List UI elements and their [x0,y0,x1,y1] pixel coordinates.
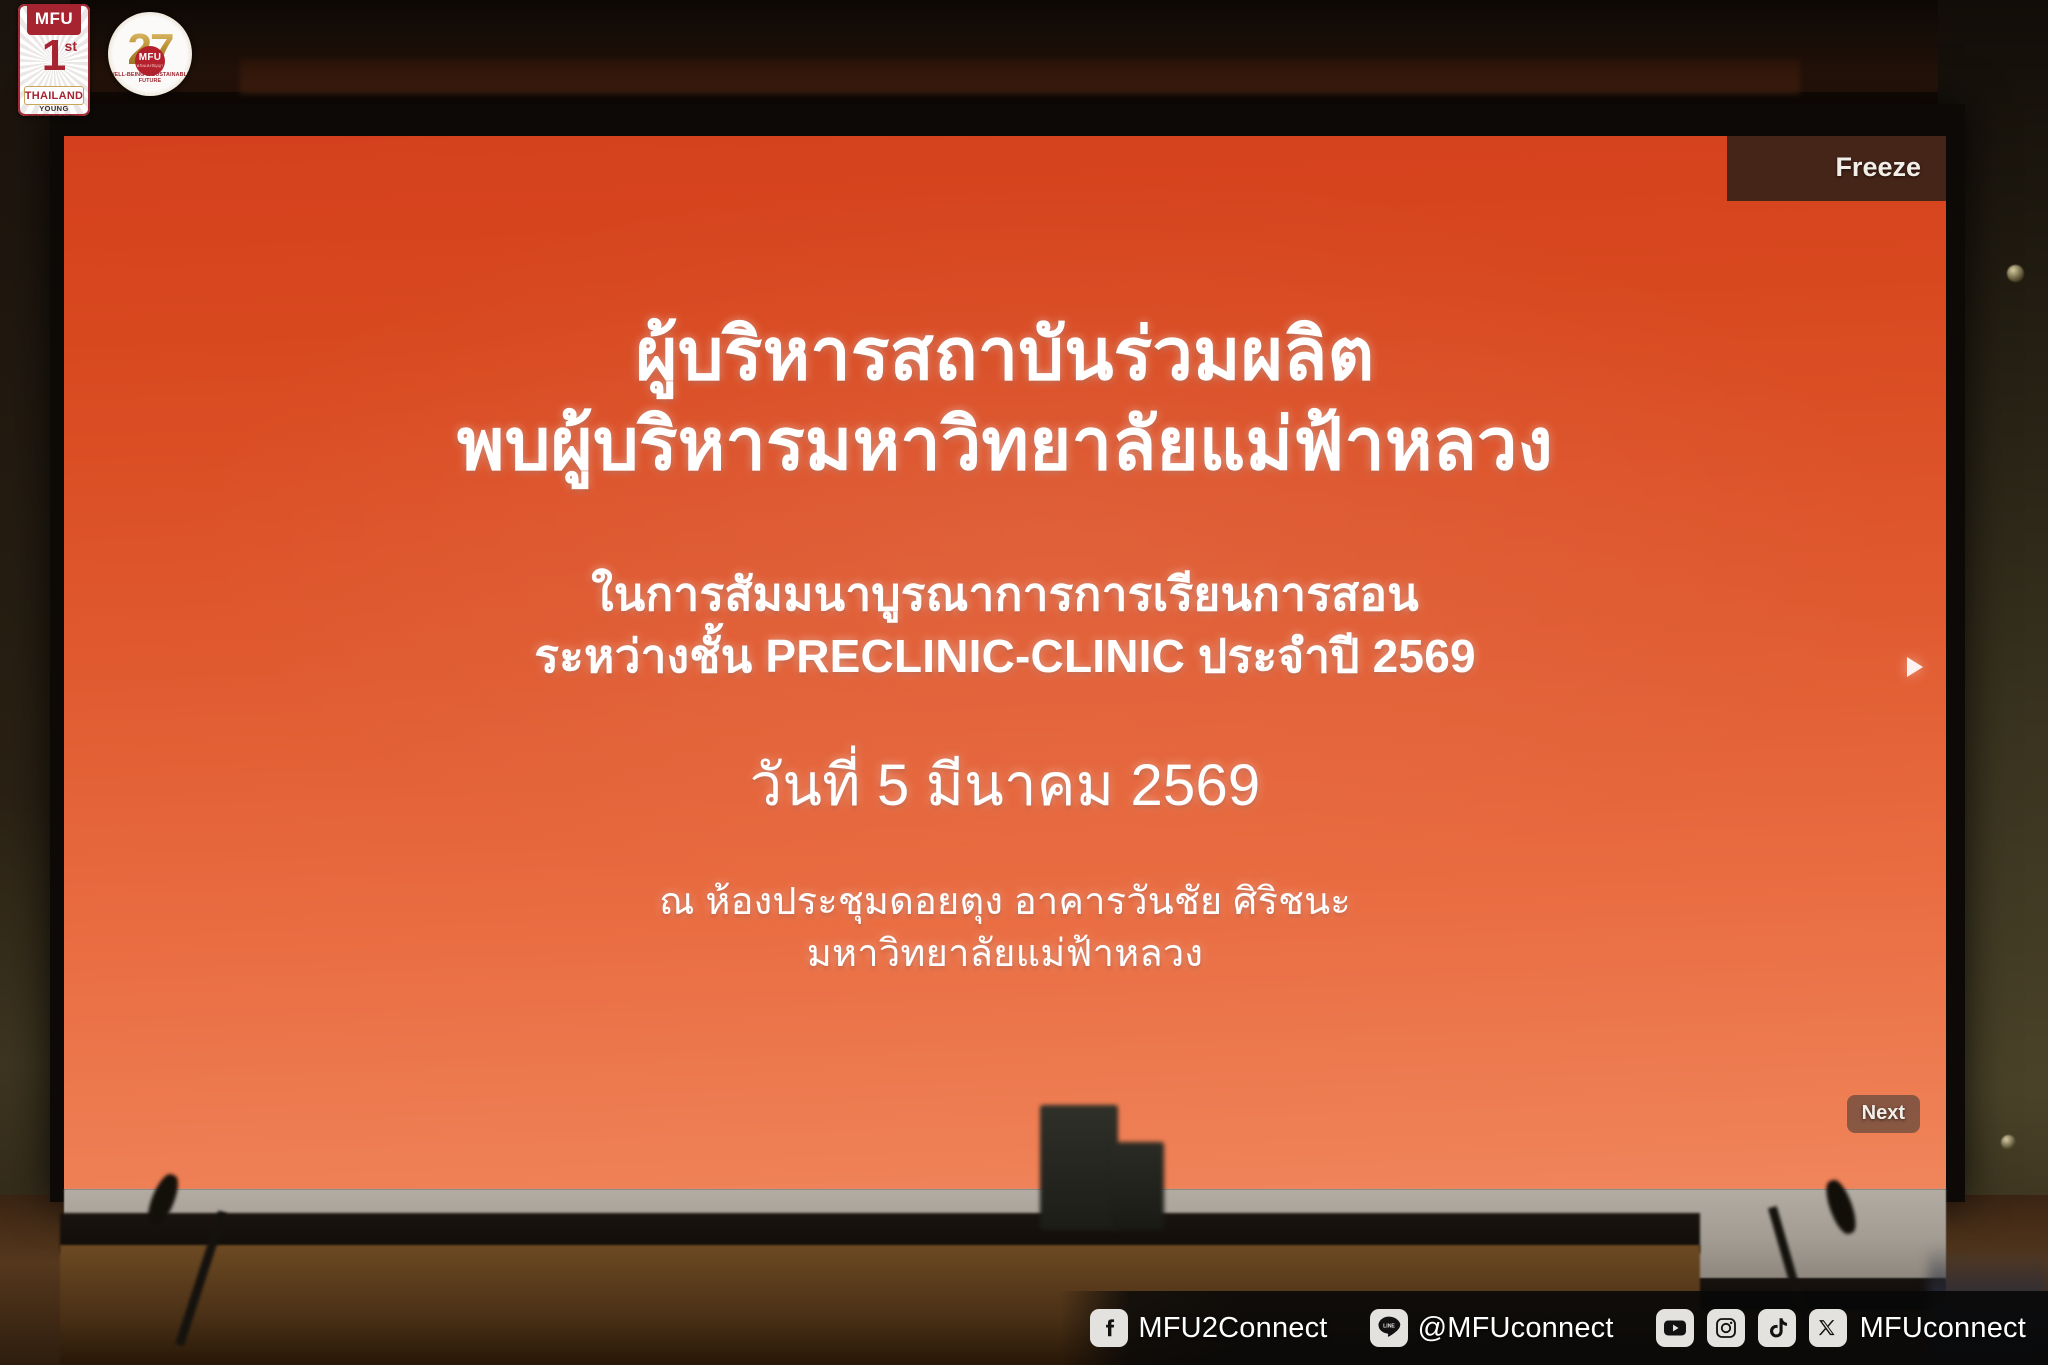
line-handle: @MFUconnect [1418,1312,1614,1345]
facebook-handle: MFU2Connect [1138,1312,1327,1345]
x-twitter-icon[interactable] [1809,1309,1847,1347]
desk-object-secondary [1112,1142,1164,1230]
slide-subtitle-line-1: ในการสัมมนาบูรณาการการเรียนการสอน [64,564,1946,626]
slide-subtitle-line-2: ระหว่างชั้น PRECLINIC-CLINIC ประจำปี 256… [64,626,1946,688]
anniversary-seal-subbrand: พลังแห่งปัญญา [137,63,164,68]
door-knob-lower [2001,1135,2016,1150]
tiktok-icon[interactable] [1758,1309,1796,1347]
freeze-button[interactable]: Freeze [1727,136,1946,201]
social-entry-facebook[interactable]: MFU2Connect [1090,1309,1327,1347]
slide-venue-line-2: มหาวิทยาลัยแม่ฟ้าหลวง [64,928,1946,980]
slide-date: วันที่ 5 มีนาคม 2569 [64,748,1946,823]
presentation-slide: ผู้บริหารสถาบันร่วมผลิต พบผู้บริหารมหาวิ… [64,136,1946,1189]
mfu-logo-rank-suffix: st [65,38,77,54]
logo-bar: MFU 1 st THAILAND YOUNG UNIVERSITY 27 MF… [18,4,192,116]
play-arrow-icon[interactable] [1898,650,1932,684]
anniversary-tagline: WELL-BEING & SUSTAINABLE FUTURE [108,72,192,84]
mfu-logo-country: THAILAND [24,86,84,105]
door-knob-upper [2007,265,2024,282]
slide-title-line-2: พบผู้บริหารมหาวิทยาลัยแม่ฟ้าหลวง [64,401,1946,490]
slide-title-line-1: ผู้บริหารสถาบันร่วมผลิต [64,311,1946,400]
svg-text:LINE: LINE [1383,1323,1395,1329]
line-icon[interactable]: LINE [1370,1309,1408,1347]
anniversary-seal-brand: MFU [139,53,162,63]
instagram-icon[interactable] [1707,1309,1745,1347]
mfu-logo-category: YOUNG UNIVERSITY [18,104,90,116]
desk-object-primary [1040,1105,1118,1230]
next-button[interactable]: Next [1847,1095,1920,1133]
social-entry-line[interactable]: LINE @MFUconnect [1370,1309,1614,1347]
multi-social-handle: MFUconnect [1860,1312,2026,1345]
slide-venue-line-1: ณ ห้องประชุมดอยตุง อาคารวันชัย ศิริชนะ [64,876,1946,928]
mfu-logo-rank: 1 [18,34,90,78]
mfu-first-young-university-logo: MFU 1 st THAILAND YOUNG UNIVERSITY [18,4,90,116]
facebook-icon[interactable] [1090,1309,1128,1347]
mfu-27th-anniversary-logo: 27 MFU พลังแห่งปัญญา WELL-BEING & SUSTAI… [108,12,192,96]
youtube-icon[interactable] [1656,1309,1694,1347]
ceiling-beam [240,60,1800,94]
social-media-bar: MFU2Connect LINE @MFUconnect [1060,1291,2048,1365]
